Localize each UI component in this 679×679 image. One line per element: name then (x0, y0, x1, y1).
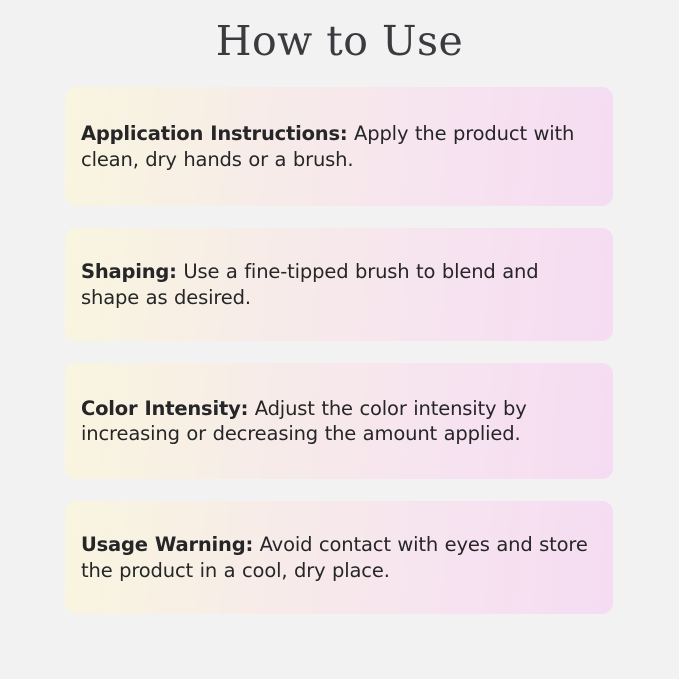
instruction-text: Shaping: Use a fine-tipped brush to blen… (81, 259, 596, 310)
instruction-label: Shaping: (81, 260, 177, 283)
instruction-card: Application Instructions: Apply the prod… (65, 87, 613, 206)
instruction-card: Shaping: Use a fine-tipped brush to blen… (65, 228, 613, 341)
instruction-card: Usage Warning: Avoid contact with eyes a… (65, 501, 613, 614)
instruction-card: Color Intensity: Adjust the color intens… (65, 363, 613, 479)
instruction-card-list: Application Instructions: Apply the prod… (65, 87, 613, 614)
instruction-text: Application Instructions: Apply the prod… (81, 121, 596, 172)
instruction-text: Color Intensity: Adjust the color intens… (81, 396, 596, 447)
instruction-text: Usage Warning: Avoid contact with eyes a… (81, 532, 596, 583)
instruction-label: Application Instructions: (81, 122, 347, 145)
page-title: How to Use (0, 17, 679, 65)
instruction-label: Usage Warning: (81, 533, 253, 556)
instruction-label: Color Intensity: (81, 397, 248, 420)
how-to-use-infographic: How to Use Application Instructions: App… (0, 0, 679, 679)
